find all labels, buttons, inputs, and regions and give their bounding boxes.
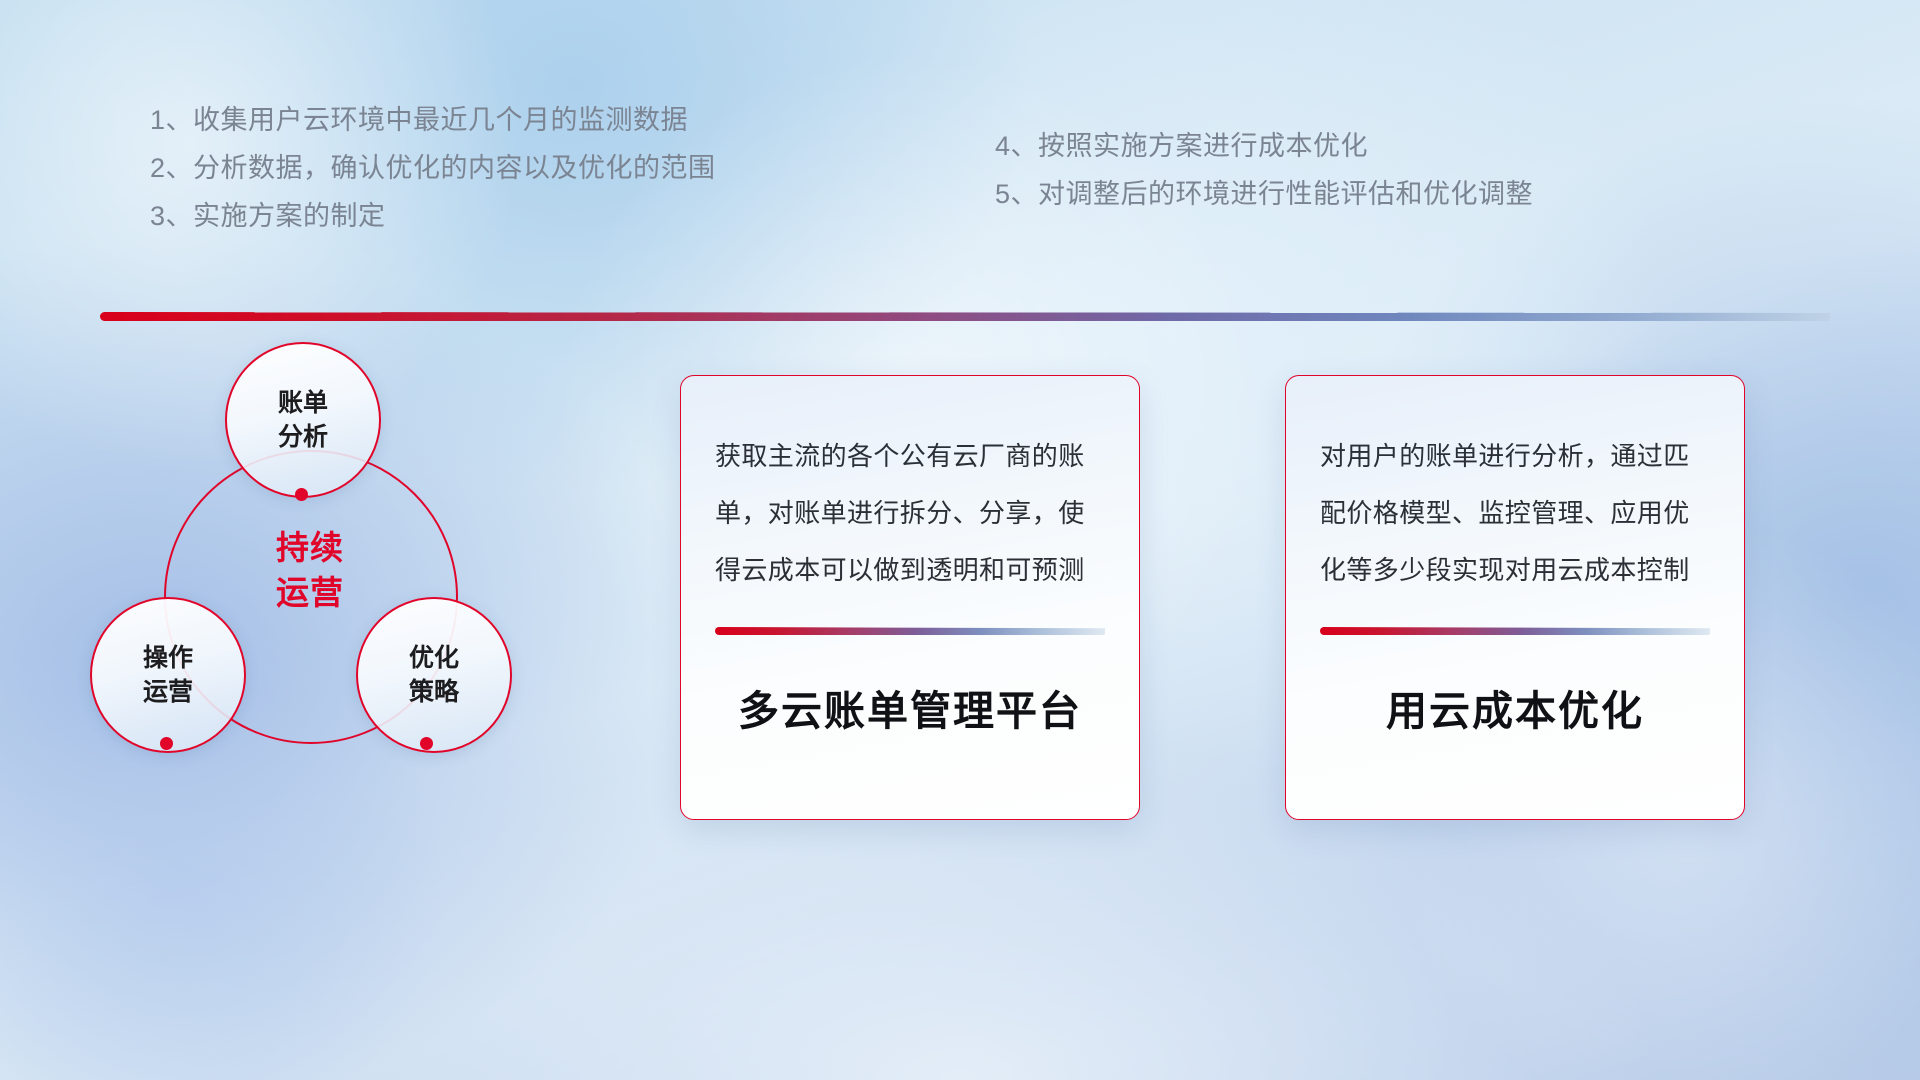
step-item-4: 4、按照实施方案进行成本优化 xyxy=(995,122,1715,170)
diagram-node-optimization-strategy[interactable]: 优化 策略 xyxy=(356,597,512,753)
slide-canvas: 1、收集用户云环境中最近几个月的监测数据 2、分析数据，确认优化的内容以及优化的… xyxy=(0,0,1920,1080)
diagram-connector-dot-right xyxy=(420,737,433,750)
steps-left-column: 1、收集用户云环境中最近几个月的监测数据 2、分析数据，确认优化的内容以及优化的… xyxy=(150,96,850,240)
step-item-2: 2、分析数据，确认优化的内容以及优化的范围 xyxy=(150,144,850,192)
diagram-connector-dot-top xyxy=(295,488,308,501)
diagram-node-operations[interactable]: 操作 运营 xyxy=(90,597,246,753)
step-item-3: 3、实施方案的制定 xyxy=(150,192,850,240)
steps-right-column: 4、按照实施方案进行成本优化 5、对调整后的环境进行性能评估和优化调整 xyxy=(995,122,1715,218)
diagram-node-bill-analysis-line-1: 账单 xyxy=(278,386,328,420)
card-1-title: 多云账单管理平台 xyxy=(715,677,1105,737)
section-divider xyxy=(100,312,1830,321)
diagram-node-bill-analysis-line-2: 分析 xyxy=(278,420,328,454)
card-1-body: 获取主流的各个公有云厂商的账单，对账单进行拆分、分享，使得云成本可以做到透明和可… xyxy=(715,428,1105,599)
diagram-center-label-line-1: 持续 xyxy=(242,525,378,570)
card-2-title: 用云成本优化 xyxy=(1320,677,1710,737)
step-item-1: 1、收集用户云环境中最近几个月的监测数据 xyxy=(150,96,850,144)
continuous-operations-diagram: 持续 运营 账单 分析 操作 运营 优化 策略 xyxy=(90,345,560,845)
card-multi-cloud-billing-platform[interactable]: 获取主流的各个公有云厂商的账单，对账单进行拆分、分享，使得云成本可以做到透明和可… xyxy=(680,375,1140,820)
diagram-node-operations-line-1: 操作 xyxy=(143,641,193,675)
step-item-5: 5、对调整后的环境进行性能评估和优化调整 xyxy=(995,170,1715,218)
card-2-divider xyxy=(1320,627,1710,635)
diagram-node-bill-analysis[interactable]: 账单 分析 xyxy=(225,342,381,498)
card-1-divider xyxy=(715,627,1105,635)
card-cloud-cost-optimization[interactable]: 对用户的账单进行分析，通过匹配价格模型、监控管理、应用优化等多少段实现对用云成本… xyxy=(1285,375,1745,820)
card-2-body: 对用户的账单进行分析，通过匹配价格模型、监控管理、应用优化等多少段实现对用云成本… xyxy=(1320,428,1710,599)
diagram-node-optimization-strategy-line-2: 策略 xyxy=(409,675,459,709)
diagram-center-label: 持续 运营 xyxy=(242,525,378,615)
diagram-center-label-line-2: 运营 xyxy=(242,570,378,615)
diagram-connector-dot-left xyxy=(160,737,173,750)
diagram-node-optimization-strategy-line-1: 优化 xyxy=(409,641,459,675)
diagram-node-operations-line-2: 运营 xyxy=(143,675,193,709)
